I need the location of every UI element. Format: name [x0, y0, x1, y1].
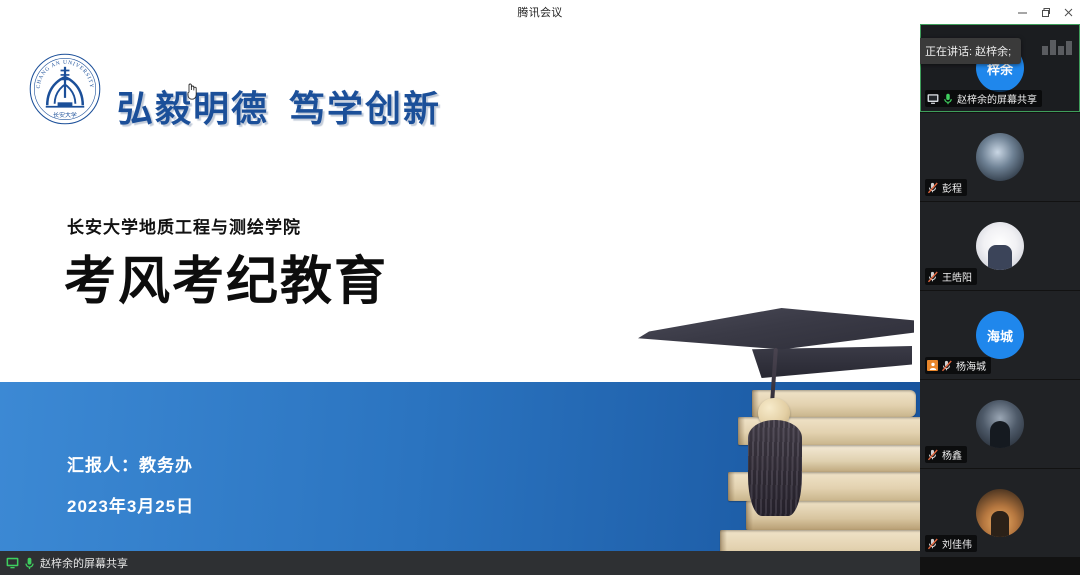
shared-screen-stage[interactable]: CHANG AN UNIVERSITY 长安大学 弘毅明德笃学创新 长 [0, 24, 920, 551]
screen-share-status-bar: 赵梓余的屏幕共享 [0, 551, 920, 575]
hand-cursor-icon [185, 82, 199, 100]
participant-tile-3[interactable]: 海城 杨海城 [920, 291, 1080, 379]
avatar [976, 489, 1024, 537]
presentation-slide: CHANG AN UNIVERSITY 长安大学 弘毅明德笃学创新 长 [0, 24, 920, 551]
book [720, 530, 920, 551]
slide-presenter: 汇报人：教务办 [67, 451, 193, 476]
participant-name: 彭程 [942, 180, 962, 195]
participant-name-bar: 杨鑫 [925, 446, 967, 463]
slide-motto: 弘毅明德笃学创新 [117, 80, 441, 132]
microphone-muted-icon [927, 449, 939, 461]
audio-waveform-icon [1042, 40, 1072, 55]
tassel-skirt [748, 420, 802, 516]
mortarboard [620, 302, 920, 422]
maximize-icon [1040, 7, 1051, 18]
microphone-muted-icon [927, 182, 939, 194]
participant-tile-4[interactable]: 杨鑫 [920, 380, 1080, 468]
participant-name-bar: 刘佳伟 [925, 535, 977, 552]
changan-university-seal-icon: CHANG AN UNIVERSITY 长安大学 [28, 52, 102, 126]
avatar-initials: 海城 [987, 326, 1013, 345]
speaking-tooltip: 正在讲话: 赵梓余; [920, 38, 1021, 64]
graduation-cap-and-books-illustration [620, 294, 920, 551]
close-icon [1063, 7, 1074, 18]
avatar [976, 400, 1024, 448]
avatar: 海城 [976, 311, 1024, 359]
microphone-on-icon [24, 557, 35, 570]
slide-header: CHANG AN UNIVERSITY 长安大学 弘毅明德笃学创新 [0, 24, 920, 149]
participant-tile-2[interactable]: 王皓阳 [920, 202, 1080, 290]
participant-name: 杨海城 [956, 358, 986, 373]
participant-name-bar: 赵梓余的屏幕共享 [925, 90, 1042, 107]
participant-name-bar: 彭程 [925, 179, 967, 196]
microphone-on-icon [942, 93, 954, 105]
meeting-window-body: CHANG AN UNIVERSITY 长安大学 弘毅明德笃学创新 长 [0, 24, 1080, 575]
host-person-icon [929, 362, 937, 370]
slide-main-title: 考风考纪教育 [64, 256, 388, 308]
minimize-icon [1017, 7, 1028, 18]
participant-rail[interactable]: 正在讲话: 赵梓余; 梓余 赵梓余的屏幕共享 [920, 24, 1080, 575]
slide-date: 2023年3月25日 [67, 492, 194, 517]
window-title-bar: 腾讯会议 [0, 0, 1080, 24]
participant-name: 刘佳伟 [942, 536, 972, 551]
microphone-muted-icon [927, 271, 939, 283]
microphone-muted-icon [941, 360, 953, 372]
participant-name-bar: 杨海城 [925, 357, 991, 374]
avatar [976, 222, 1024, 270]
close-button[interactable] [1057, 0, 1080, 24]
participant-name-bar: 王皓阳 [925, 268, 977, 285]
participant-tile-1[interactable]: 彭程 [920, 113, 1080, 201]
window-controls [1011, 0, 1080, 24]
participant-name: 杨鑫 [942, 447, 962, 462]
host-badge [927, 360, 938, 371]
slide-subheading: 长安大学地质工程与测绘学院 [67, 213, 301, 238]
motto-right: 笃学创新 [289, 88, 441, 130]
participant-name: 赵梓余的屏幕共享 [957, 91, 1037, 106]
monitor-share-icon [6, 557, 19, 569]
monitor-share-icon [927, 93, 939, 105]
minimize-button[interactable] [1011, 0, 1034, 24]
screen-share-owner-label: 赵梓余的屏幕共享 [40, 555, 128, 571]
speaking-tooltip-text: 正在讲话: 赵梓余; [925, 43, 1011, 59]
participant-tile-0[interactable]: 正在讲话: 赵梓余; 梓余 赵梓余的屏幕共享 [920, 24, 1080, 112]
participant-name: 王皓阳 [942, 269, 972, 284]
participant-tile-5[interactable]: 刘佳伟 [920, 469, 1080, 557]
window-title: 腾讯会议 [517, 4, 562, 20]
avatar [976, 133, 1024, 181]
maximize-button[interactable] [1034, 0, 1057, 24]
microphone-muted-icon [927, 538, 939, 550]
